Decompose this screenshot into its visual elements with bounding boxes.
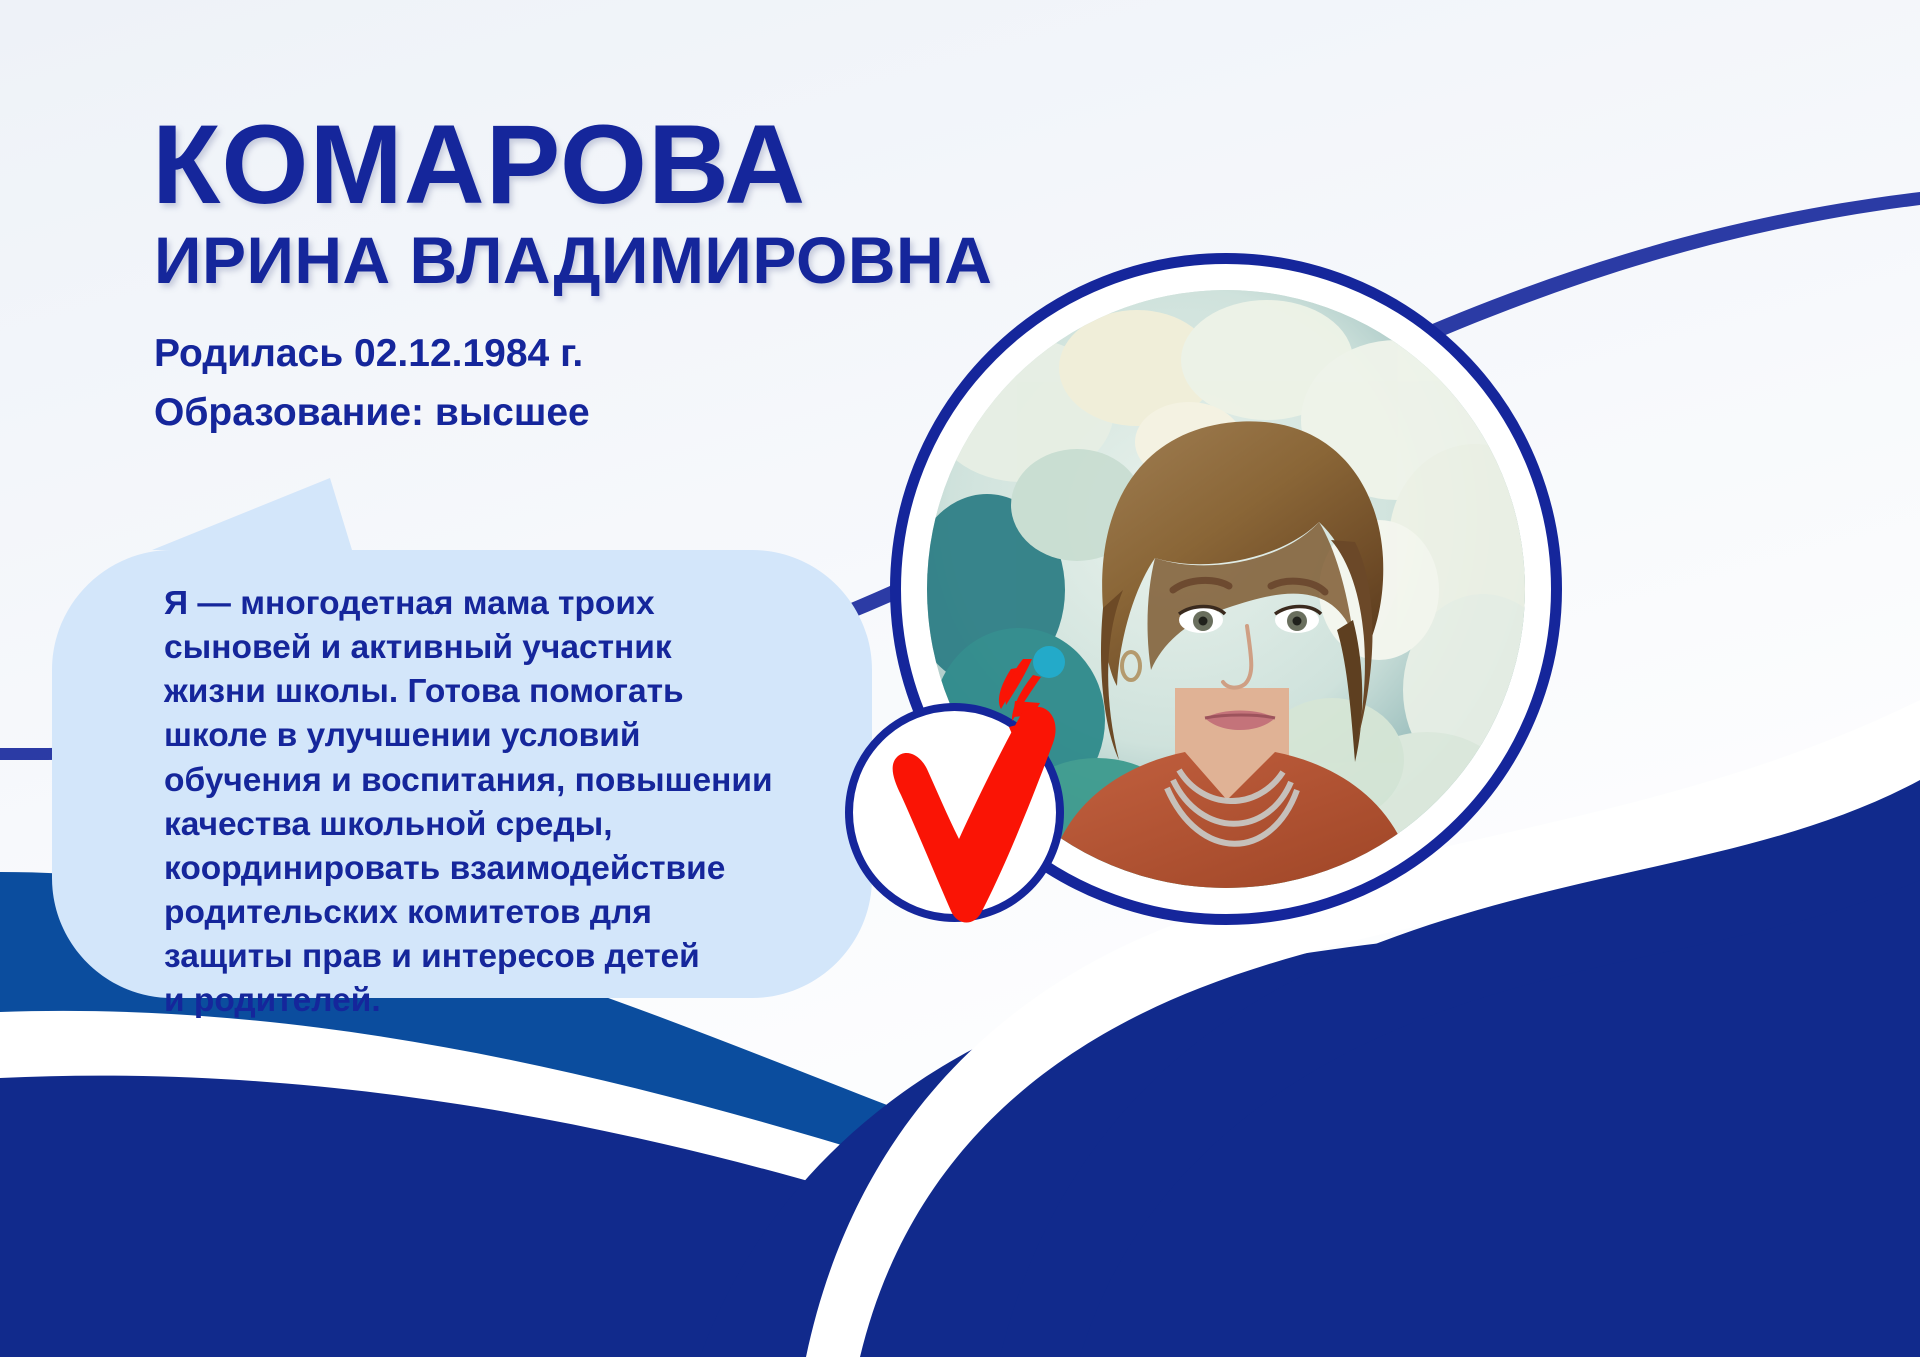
candidate-poster: КОМАРОВА ИРИНА ВЛАДИМИРОВНА Родилась 02.…	[0, 0, 1920, 1357]
statement-bubble: Я — многодетная мама троих сыновей и акт…	[52, 478, 872, 998]
candidate-surname: КОМАРОВА	[152, 108, 1162, 222]
statement-text: Я — многодетная мама троих сыновей и акт…	[164, 582, 814, 1023]
vote-check-badge	[845, 703, 1064, 922]
check-mark-icon	[827, 655, 1097, 930]
